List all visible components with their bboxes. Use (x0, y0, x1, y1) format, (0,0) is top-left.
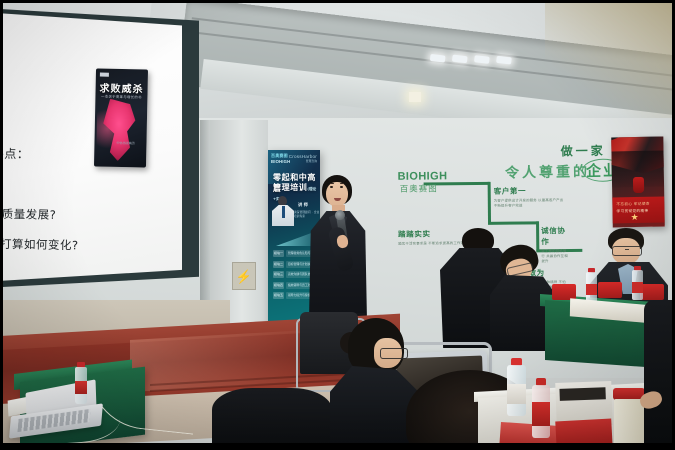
red-package (499, 422, 561, 450)
slide-line-3: 么要高质量发展? (0, 198, 156, 232)
ceiling-warm-glow (545, 0, 675, 120)
banner-logo-left-cn: 百奥赛图 (271, 153, 288, 158)
electrical-hazard-sign: ⚡ (232, 262, 256, 290)
ceiling-light-1 (430, 54, 446, 63)
slogan-line-1: 做一家 (560, 142, 605, 160)
projection-screen: 求败威杀 一本关于变革与增长的书 中信出版集团 下列各点： ? 么要高质量发展?… (0, 12, 182, 282)
red-gift-box (640, 284, 664, 300)
red-package-2 (555, 419, 612, 450)
water-bottle (586, 268, 597, 302)
water-bottle (506, 358, 526, 416)
book-cover-tag (100, 73, 109, 77)
foreground-attendee-arm (644, 300, 675, 450)
banner-speaker-illustration (272, 196, 294, 226)
book-cover-subtitle: 一本关于变革与增长的书 (95, 93, 147, 99)
bottle-label (75, 381, 87, 394)
banner-logo-left-en: BIOHIGH (271, 159, 290, 164)
wall-brand-cn: 百奥赛图 (400, 182, 438, 194)
poster-star-icon: ★ (631, 213, 639, 222)
graphic-line-2 (488, 182, 491, 224)
slide-line-1: 下列各点： (0, 138, 157, 172)
foreground-attendee-back (212, 388, 332, 450)
ceiling-downlight (409, 92, 421, 102)
banner-logo-left: 百奥赛图 BIOHIGH (271, 153, 290, 164)
banner-module-key: 模块一 (273, 250, 284, 257)
poster-headline: 不忘初心 牢记使命 (616, 202, 650, 208)
ceiling-light-4 (496, 56, 512, 65)
slogan-line-2: 令人尊重的 (505, 161, 590, 182)
box-label-strip (559, 387, 605, 401)
bottle-label (532, 402, 550, 426)
banner-logo-right-cn: 管理咨询 (289, 159, 317, 163)
presenter-eyebrow-right (340, 183, 345, 184)
wall-poster-red: 不忘初心 牢记使命 学习贯彻党的精神 ★ (611, 137, 665, 228)
banner-module-key: 模块二 (273, 261, 284, 268)
slide-line-4: ? 个人打算如何变化? (0, 228, 155, 262)
presenter-eyebrow-left (330, 183, 335, 184)
wall-brand-en: BIOHIGH (397, 170, 447, 183)
banner-module-key: 模块三 (273, 271, 284, 278)
value-node-heading: 诚信协作 (541, 225, 568, 247)
slide-text-block: 下列各点： ? 么要高质量发展? ? 个人打算如何变化? (0, 138, 157, 262)
bottle-label (507, 384, 526, 404)
slide-line-2: ? (0, 168, 157, 202)
graphic-line-3 (488, 221, 538, 224)
red-gift-box (598, 282, 622, 298)
water-bottle (74, 362, 88, 404)
jar-body (614, 399, 644, 450)
poster-vase-graphic (633, 177, 644, 193)
water-bottle (632, 266, 643, 300)
ceiling-light-3 (474, 55, 490, 64)
seminar-photo: ⚡ 求败威杀 一本关于变革与增长的书 中信出版集团 下列各点： ? 么要高质量发… (0, 0, 675, 450)
banner-illustration-head (278, 196, 287, 206)
eyeglasses-icon (380, 348, 408, 359)
lightning-bolt-icon: ⚡ (236, 270, 252, 283)
banner-module-key: 模块五 (273, 292, 284, 299)
banner-logo-right: CrossHarbor 管理咨询 (289, 154, 317, 163)
bottle-label (586, 284, 597, 295)
ceiling-light-2 (452, 55, 468, 64)
banner-module-key: 模块四 (273, 282, 284, 289)
eyeglasses-icon (612, 246, 642, 256)
banner-illustration-tie (282, 206, 285, 218)
water-bottle-2 (532, 378, 550, 438)
bottle-label (632, 282, 643, 293)
